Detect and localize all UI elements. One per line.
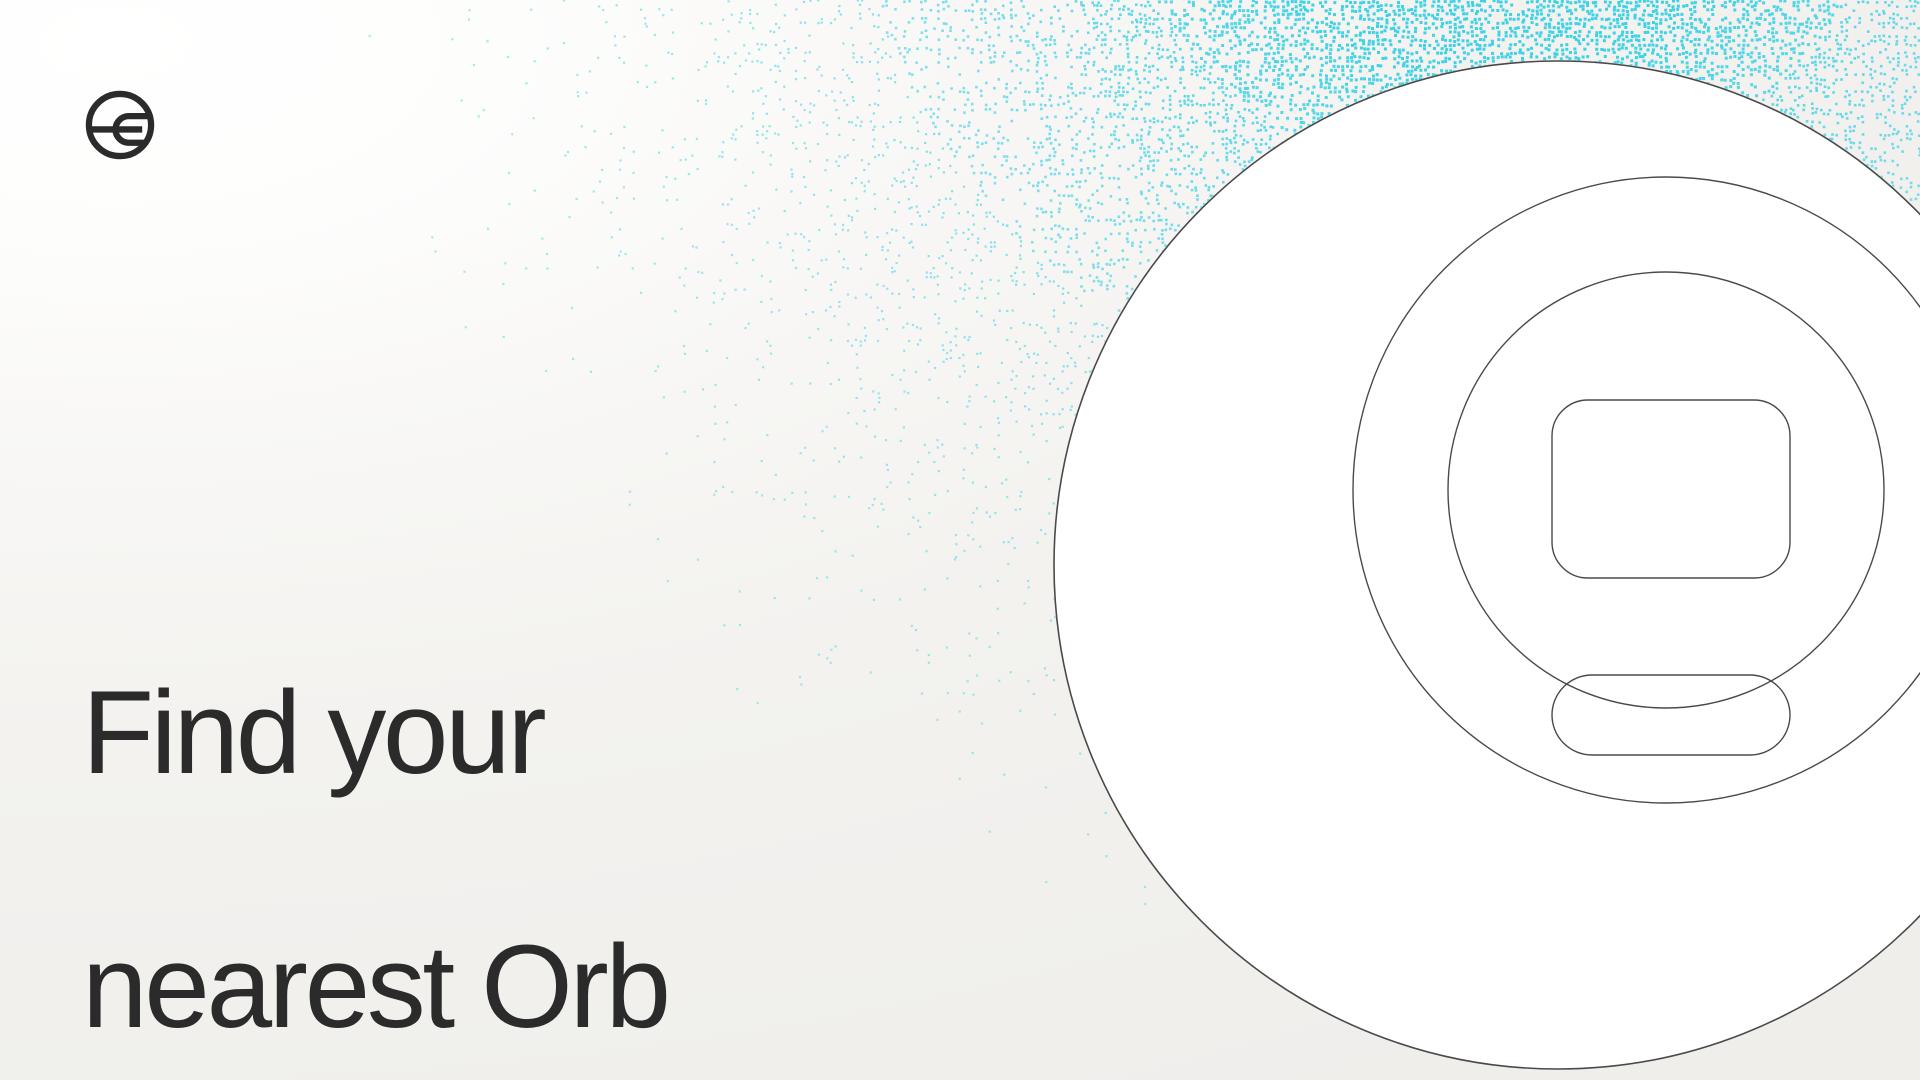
headline-line-2: nearest Orb <box>82 928 982 1046</box>
world-logo[interactable] <box>83 88 157 162</box>
hero-screen: Find your nearest Orb <box>0 0 1920 1080</box>
page-title: Find your nearest Orb <box>82 556 982 1080</box>
headline-line-1: Find your <box>82 674 982 792</box>
logo-outer-ring <box>89 94 151 156</box>
